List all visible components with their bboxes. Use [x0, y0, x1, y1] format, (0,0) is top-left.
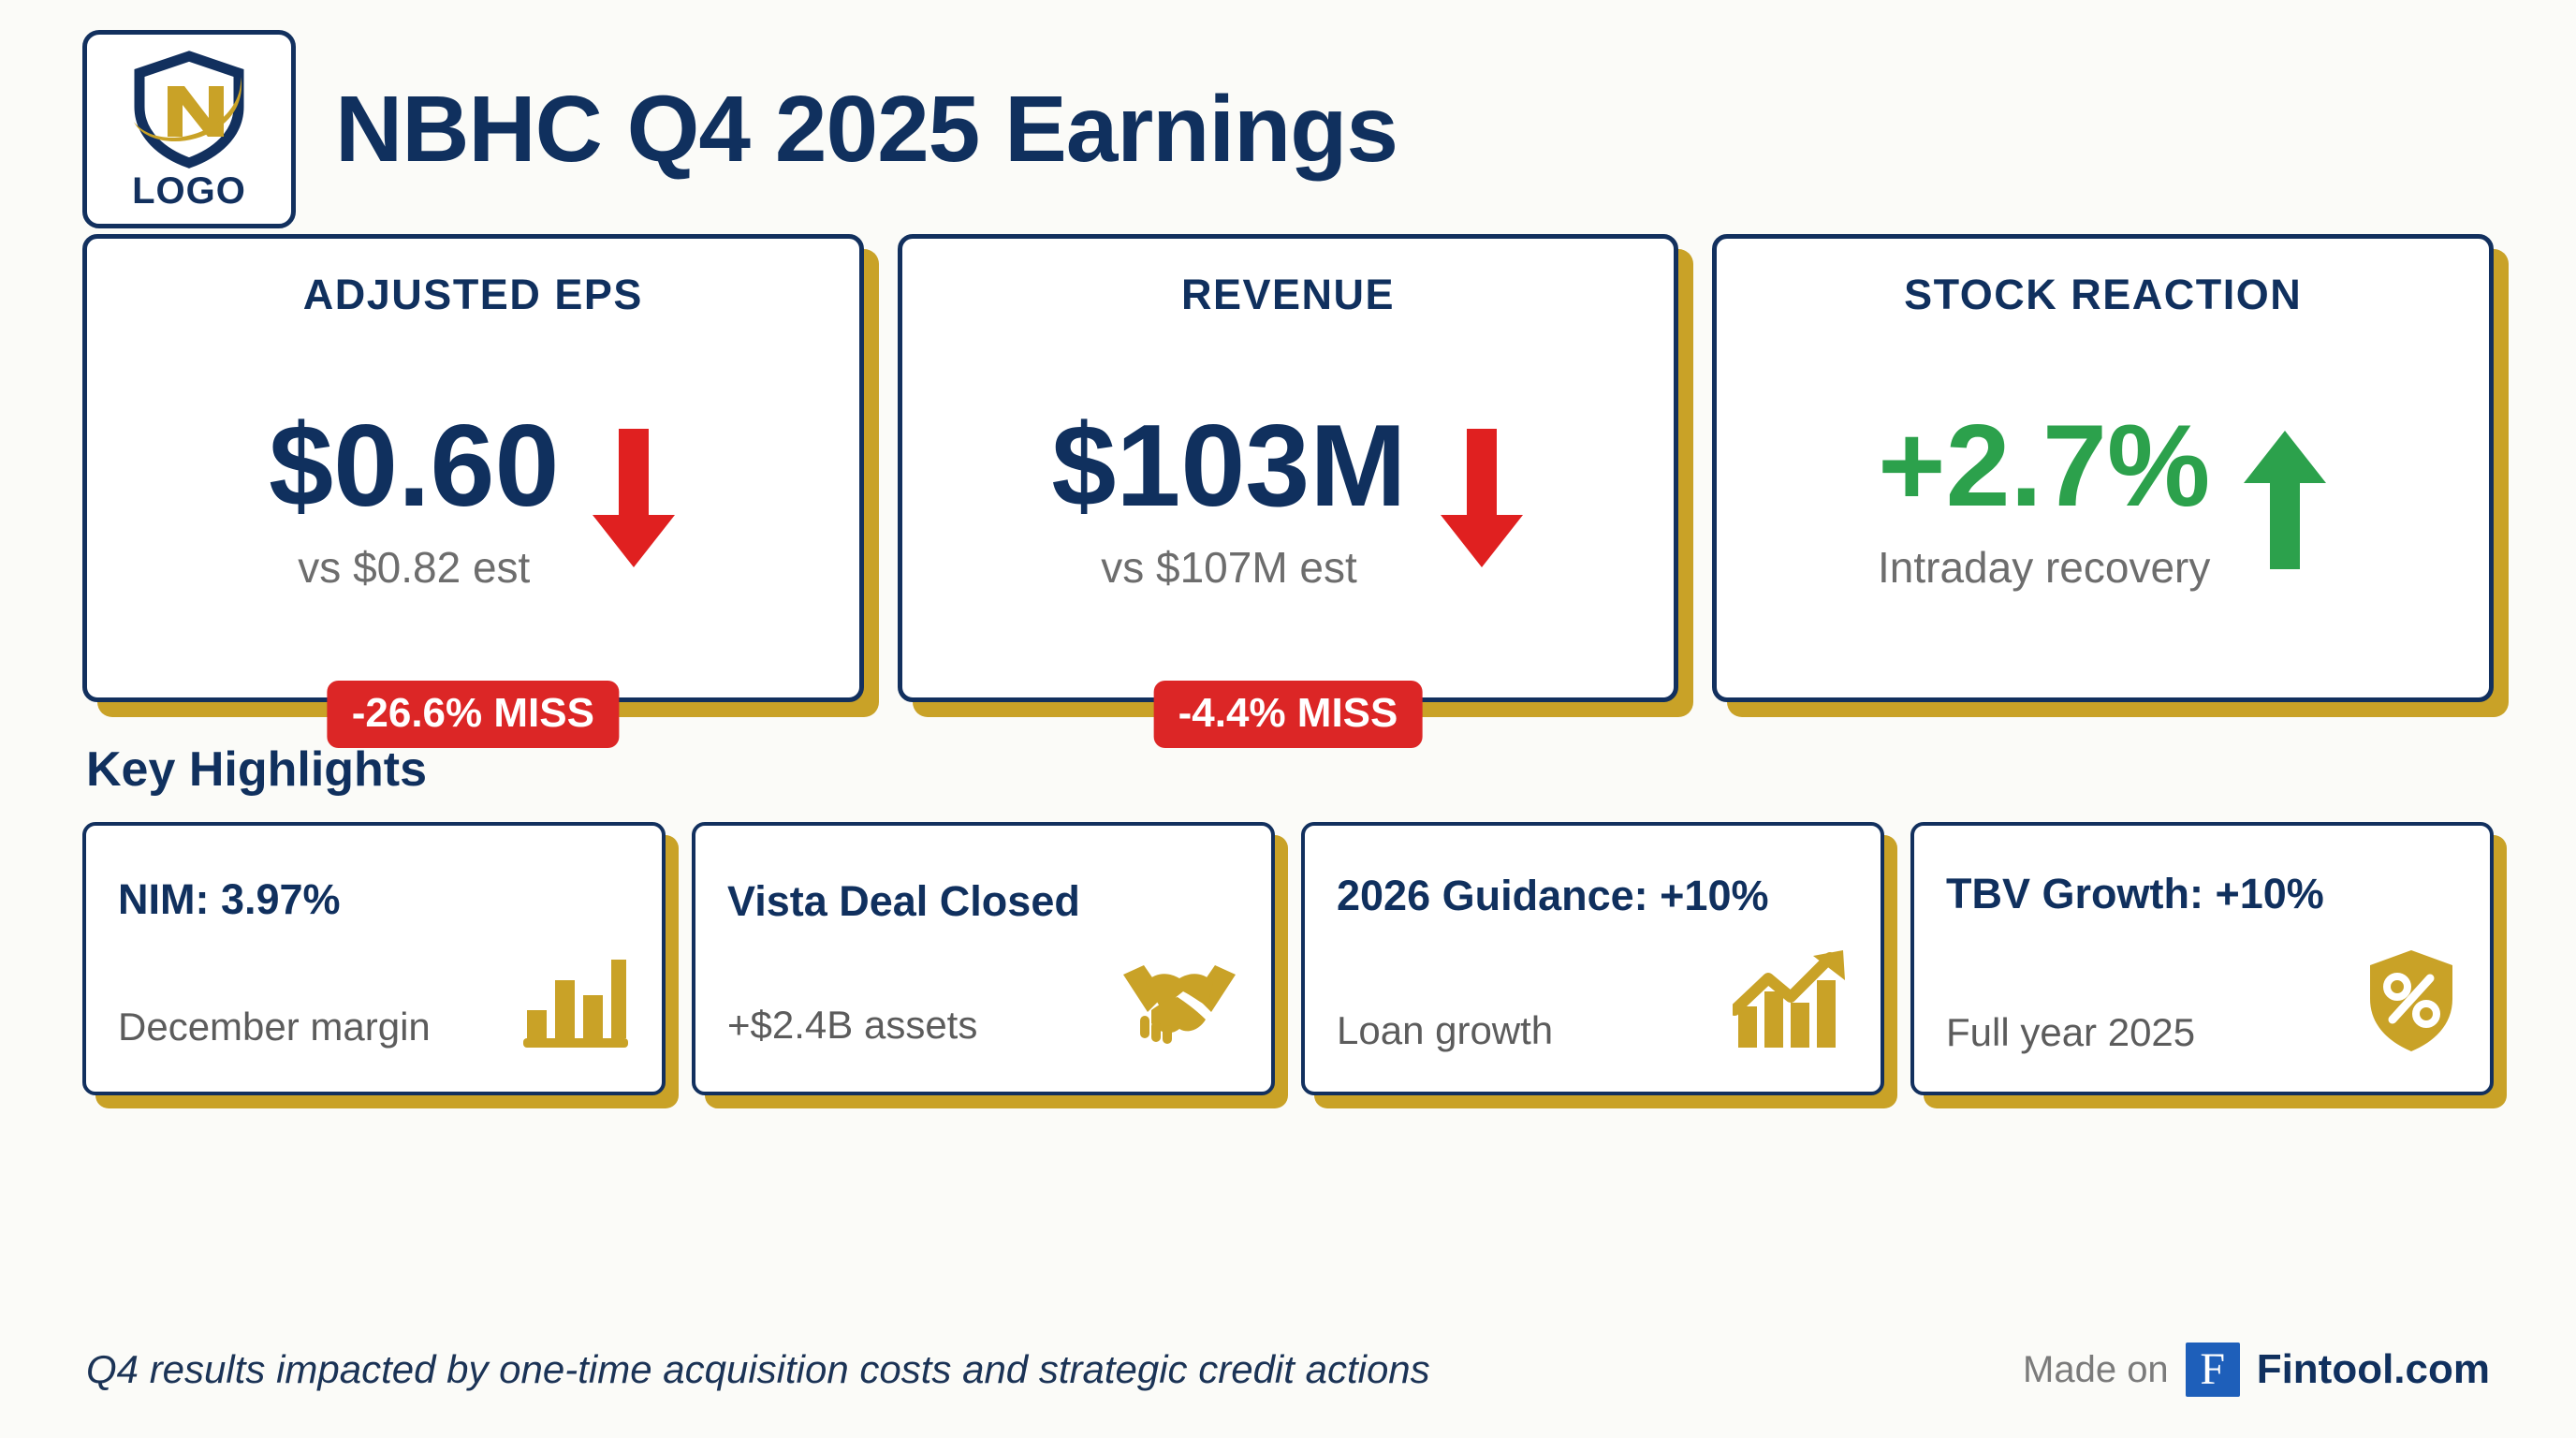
metric-value: $0.60 [269, 405, 559, 527]
metric-card-row: ADJUSTED EPS $0.60 vs $0.82 est -26.6% M… [0, 215, 2576, 702]
metric-label: REVENUE [1181, 271, 1395, 319]
highlight-card-vista-deal: Vista Deal Closed +$2.4B assets [692, 822, 1275, 1095]
highlight-title: NIM: 3.97% [118, 875, 630, 924]
highlight-card-nim: NIM: 3.97% December margin [82, 822, 666, 1095]
arrow-up-icon [2242, 429, 2328, 569]
metric-subtext: vs $107M est [1101, 542, 1357, 593]
metric-subtext: vs $0.82 est [298, 542, 530, 593]
highlight-subtext: Full year 2025 [1946, 1010, 2195, 1055]
arrow-down-icon [591, 429, 677, 569]
highlight-subtext: Loan growth [1337, 1008, 1553, 1053]
header: LOGO NBHC Q4 2025 Earnings [0, 0, 2576, 215]
footer-note: Q4 results impacted by one-time acquisit… [86, 1347, 1430, 1392]
handshake-icon [1120, 954, 1239, 1048]
highlight-subtext: December margin [118, 1005, 431, 1049]
arrow-down-icon [1439, 429, 1525, 569]
shield-n-swoosh-logo-icon [119, 49, 259, 170]
fintool-logo-icon: F [2186, 1343, 2240, 1397]
metric-card-revenue: REVENUE $103M vs $107M est -4.4% MISS [898, 234, 1679, 702]
metric-subtext: Intraday recovery [1878, 542, 2210, 593]
fintool-name: Fintool.com [2257, 1346, 2490, 1393]
logo-wordmark: LOGO [132, 172, 246, 210]
highlight-card-tbv-growth: TBV Growth: +10% Full year 2025 [1910, 822, 2494, 1095]
fintool-f-glyph: F [2200, 1347, 2225, 1392]
metric-value: $103M [1051, 405, 1406, 527]
highlight-title: 2026 Guidance: +10% [1337, 872, 1849, 920]
metric-value: +2.7% [1878, 405, 2210, 527]
fintool-branding[interactable]: Made on F Fintool.com [2023, 1343, 2490, 1397]
highlight-title: TBV Growth: +10% [1946, 870, 2458, 918]
metric-label: STOCK REACTION [1904, 271, 2302, 319]
highlight-title: Vista Deal Closed [727, 877, 1239, 926]
made-on-label: Made on [2023, 1349, 2169, 1391]
metric-card-adjusted-eps: ADJUSTED EPS $0.60 vs $0.82 est -26.6% M… [82, 234, 864, 702]
trending-up-icon [1733, 948, 1849, 1053]
page-title: NBHC Q4 2025 Earnings [335, 76, 1398, 183]
highlight-subtext: +$2.4B assets [727, 1003, 977, 1048]
bar-chart-icon [521, 952, 630, 1049]
status-badge: -4.4% MISS [1154, 681, 1423, 748]
metric-card-stock-reaction: STOCK REACTION +2.7% Intraday recovery [1712, 234, 2494, 702]
status-badge: -26.6% MISS [328, 681, 619, 748]
highlight-card-row: NIM: 3.97% December margin Vista Deal Cl [0, 798, 2576, 1095]
shield-percent-icon [2364, 946, 2458, 1055]
footer: Q4 results impacted by one-time acquisit… [0, 1343, 2576, 1397]
metric-label: ADJUSTED EPS [303, 271, 643, 319]
company-logo: LOGO [82, 30, 296, 228]
infographic-page: LOGO NBHC Q4 2025 Earnings ADJUSTED EPS … [0, 0, 2576, 1438]
highlight-card-2026-guidance: 2026 Guidance: +10% Loan growth [1301, 822, 1884, 1095]
